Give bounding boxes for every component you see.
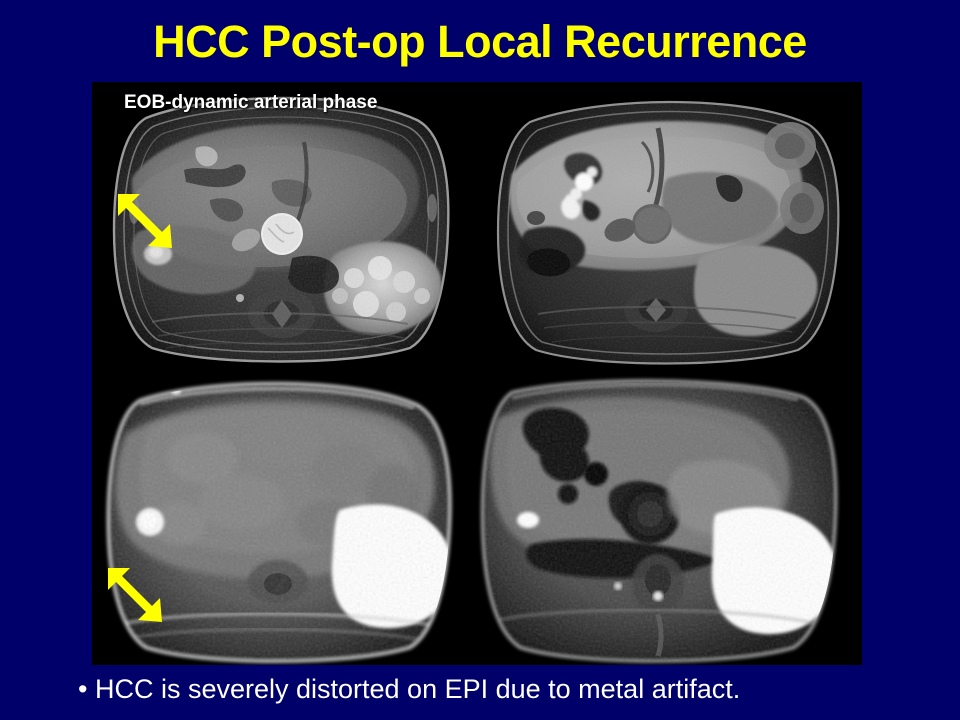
panel-fase-dwi[interactable]: FASE-DWI (92, 374, 470, 665)
panel-eob-hepatobiliary-phase[interactable]: EOB hepatobiliary phase (472, 82, 862, 372)
panel-eob-dynamic-arterial-phase[interactable]: EOB-dynamic arterial phase (92, 82, 470, 372)
annotation-arrow-fase-dwi (100, 562, 170, 632)
slide-caption: • HCC is severely distorted on EPI due t… (78, 672, 938, 706)
mri-image-epi-dwi (472, 374, 862, 665)
image-mosaic: EOB-dynamic arterial phase (92, 82, 862, 665)
page-title: HCC Post-op Local Recurrence (0, 16, 960, 68)
panel-epi-dwi[interactable]: EPI-DWI (472, 374, 862, 665)
panel-label-eob-dynamic-arterial-phase: EOB-dynamic arterial phase (124, 92, 377, 114)
presentation-slide: HCC Post-op Local Recurrence (0, 0, 960, 720)
mri-image-hepatobiliary-phase (472, 82, 862, 372)
annotation-arrow-arterial (110, 188, 180, 258)
